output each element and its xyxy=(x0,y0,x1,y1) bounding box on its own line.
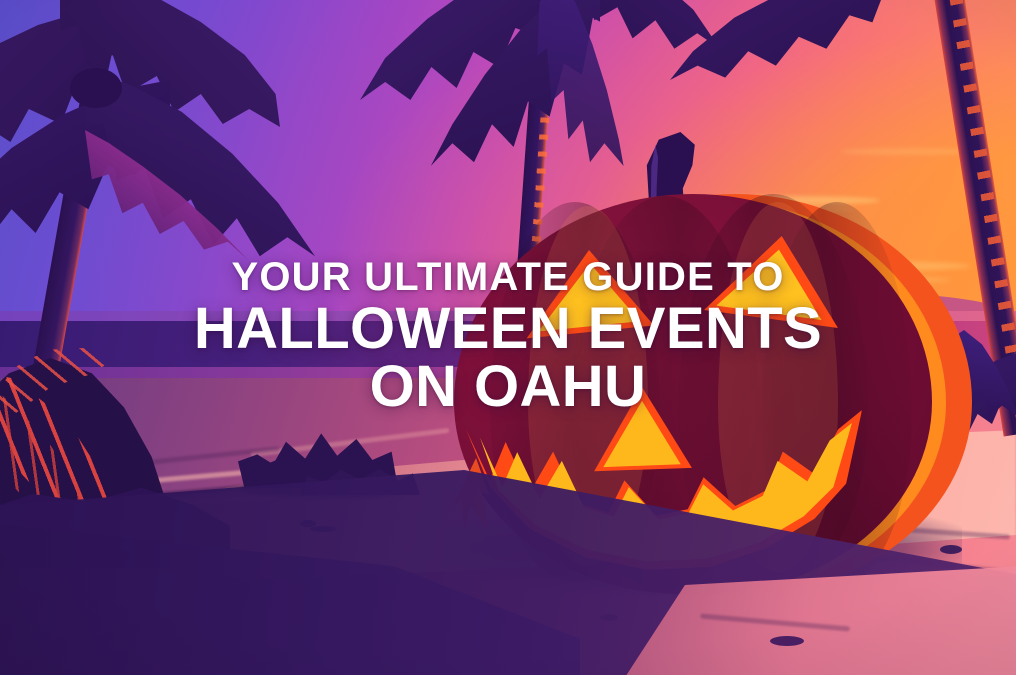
title-line-2: HALLOWEEN EVENTS xyxy=(0,301,1016,357)
title-line-3: ON OAHU xyxy=(0,359,1016,415)
pebble xyxy=(770,636,804,646)
page-title: YOUR ULTIMATE GUIDE TO HALLOWEEN EVENTS … xyxy=(0,258,1016,415)
title-line-1: YOUR ULTIMATE GUIDE TO xyxy=(0,258,1016,296)
halloween-oahu-poster: YOUR ULTIMATE GUIDE TO HALLOWEEN EVENTS … xyxy=(0,0,1016,675)
palm-left-crown xyxy=(70,68,122,108)
